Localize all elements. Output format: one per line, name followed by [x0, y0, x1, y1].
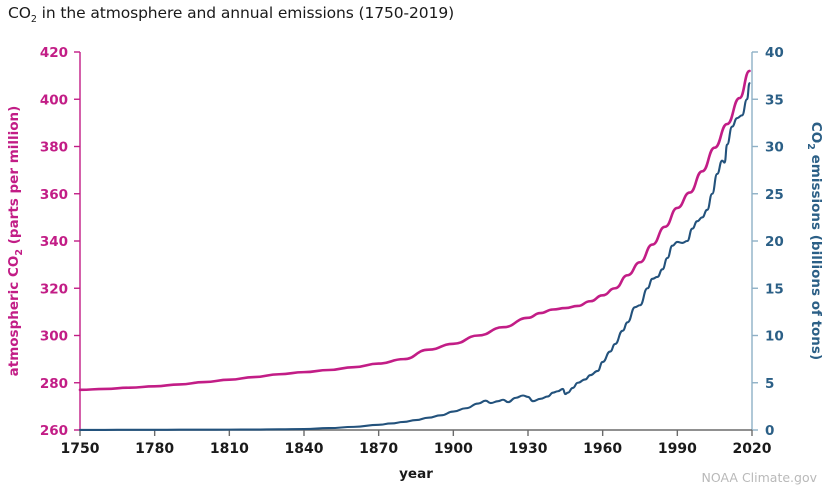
- right-axis: 0510152025303540: [752, 45, 784, 439]
- x-axis-tick-label: 1960: [583, 441, 622, 457]
- x-axis-tick-label: 1750: [61, 441, 100, 457]
- left-axis: 260280300320340360380400420: [40, 45, 80, 439]
- series-line-emissions: [80, 83, 750, 430]
- chart-title: CO2 in the atmosphere and annual emissio…: [8, 4, 454, 25]
- right-axis-title-pre: CO: [808, 122, 824, 143]
- right-axis-tick-label: 10: [765, 329, 784, 345]
- credit-label: NOAA Climate.gov: [702, 470, 817, 485]
- series-lines: [80, 71, 750, 430]
- x-axis-tick-label: 1930: [509, 441, 548, 457]
- right-axis-tick-label: 25: [765, 187, 784, 203]
- left-axis-tick-label: 260: [40, 423, 68, 439]
- right-axis-tick-label: 0: [765, 423, 774, 439]
- left-axis-tick-label: 340: [40, 234, 68, 250]
- x-axis-tick-label: 1900: [434, 441, 473, 457]
- right-axis-tick-label: 40: [765, 45, 784, 61]
- series-line-co2: [80, 71, 750, 390]
- right-axis-tick-label: 30: [765, 140, 784, 156]
- x-axis-tick-label: 1780: [135, 441, 174, 457]
- right-axis-title-post: emissions (billions of tons): [808, 150, 824, 360]
- x-axis-tick-label: 2020: [733, 441, 772, 457]
- x-axis-tick-label: 1870: [359, 441, 398, 457]
- right-axis-title-subscript: 2: [805, 143, 816, 150]
- right-axis-tick-label: 35: [765, 92, 784, 108]
- co2-chart-figure: CO2 in the atmosphere and annual emissio…: [0, 0, 825, 489]
- axis-titles: atmospheric CO2 (parts per million)CO2 e…: [6, 106, 824, 482]
- left-axis-tick-label: 380: [40, 140, 68, 156]
- x-axis: 1750178018101840187019001930196019902020: [61, 430, 772, 457]
- x-axis-title: year: [399, 466, 433, 482]
- plot-area: 260280300320340360380400420 051015202530…: [0, 0, 825, 489]
- left-axis-title-pre: atmospheric CO: [6, 256, 22, 377]
- x-axis-tick-label: 1810: [210, 441, 249, 457]
- left-axis-tick-label: 320: [40, 281, 68, 297]
- chart-title-post: in the atmosphere and annual emissions (…: [37, 4, 454, 22]
- left-axis-title: atmospheric CO2 (parts per million): [6, 106, 25, 377]
- x-axis-tick-label: 1840: [285, 441, 324, 457]
- x-axis-tick-label: 1990: [658, 441, 697, 457]
- left-axis-tick-label: 360: [40, 187, 68, 203]
- left-axis-tick-label: 300: [40, 329, 68, 345]
- left-axis-tick-label: 420: [40, 45, 68, 61]
- left-axis-tick-label: 400: [40, 92, 68, 108]
- right-axis-tick-label: 15: [765, 281, 784, 297]
- left-axis-tick-label: 280: [40, 376, 68, 392]
- right-axis-title: CO2 emissions (billions of tons): [805, 122, 824, 360]
- left-axis-title-post: (parts per million): [6, 106, 22, 249]
- left-axis-title-subscript: 2: [14, 249, 25, 256]
- right-axis-tick-label: 5: [765, 376, 774, 392]
- chart-title-pre: CO: [8, 4, 31, 22]
- right-axis-tick-label: 20: [765, 234, 784, 250]
